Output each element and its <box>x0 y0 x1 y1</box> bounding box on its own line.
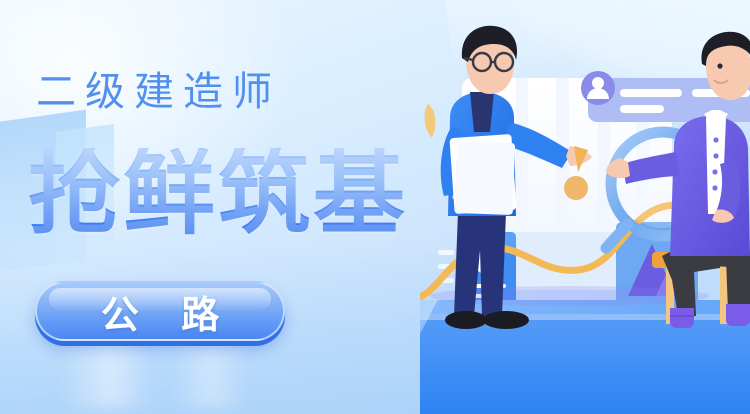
banner-title: 抢鲜筑基 <box>28 148 408 240</box>
banner-subtitle: 二级建造师 <box>36 72 281 112</box>
category-button-label: 公 路 <box>85 284 236 339</box>
illustration <box>420 0 750 414</box>
category-button[interactable]: 公 路 <box>35 281 285 341</box>
promo-banner: 二级建造师 抢鲜筑基 公 路 <box>0 0 750 414</box>
